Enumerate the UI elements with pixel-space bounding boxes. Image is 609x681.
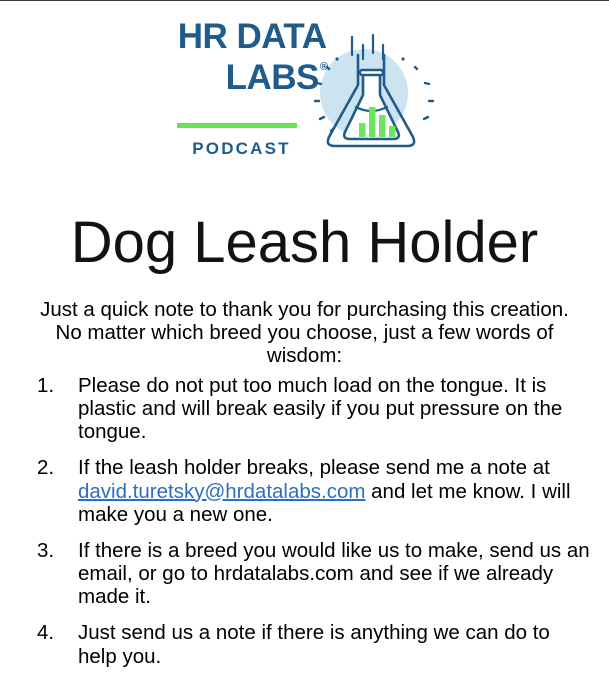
list-item-text-before-link: If the leash holder breaks, please send …	[78, 456, 550, 479]
list-item-number: 1.	[30, 374, 78, 397]
list-item: 1. Please do not put too much load on th…	[30, 374, 590, 443]
list-item: 3. If there is a breed you would like us…	[30, 539, 590, 608]
list-item-text: If there is a breed you would like us to…	[78, 539, 590, 608]
logo-line-hr-data: HR DATA	[157, 19, 327, 54]
list-item-number: 4.	[30, 621, 78, 644]
list-item-text: Please do not put too much load on the t…	[78, 374, 590, 443]
logo-tagline-podcast: PODCAST	[157, 139, 327, 159]
intro-paragraph: Just a quick note to thank you for purch…	[30, 299, 579, 368]
logo-labs-text: LABS	[226, 58, 319, 97]
logo-wordmark: HR DATA LABS®	[157, 19, 327, 95]
list-item-number: 3.	[30, 539, 78, 562]
hr-data-labs-logo: HR DATA LABS® PODCAST	[0, 19, 609, 199]
list-item: 4. Just send us a note if there is anyth…	[30, 621, 590, 667]
email-link[interactable]: david.turetsky@hrdatalabs.com	[78, 480, 365, 503]
instructions-list: 1. Please do not put too much load on th…	[30, 374, 590, 681]
list-item-number: 2.	[30, 456, 78, 479]
list-item-text: If the leash holder breaks, please send …	[78, 456, 590, 525]
page-title: Dog Leash Holder	[0, 213, 609, 274]
list-item-text: Just send us a note if there is anything…	[78, 621, 590, 667]
flask-beaker-icon	[307, 27, 443, 159]
list-item: 2. If the leash holder breaks, please se…	[30, 456, 590, 525]
logo-green-divider	[177, 123, 297, 128]
document-page: HR DATA LABS® PODCAST	[0, 0, 609, 675]
